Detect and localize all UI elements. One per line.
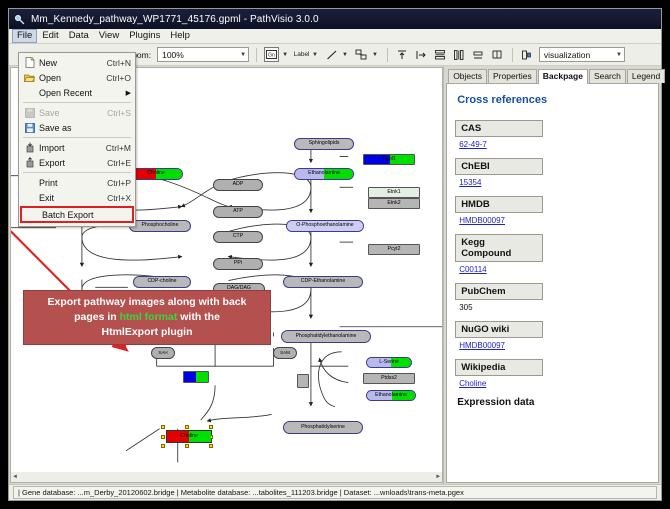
tab-backpage[interactable]: Backpage [538, 69, 588, 84]
datanode-tool-button[interactable]: Gn [264, 47, 279, 62]
annotation-line-3: HtmlExport plugin [30, 325, 264, 340]
canvas-horizontal-scrollbar[interactable]: ◄ ► [10, 472, 443, 483]
distribute-vertical-icon[interactable] [433, 47, 448, 62]
node-label: L-Serine [379, 360, 399, 365]
node-label: O-Phosphoethanolamine [296, 223, 353, 228]
side-panel: Objects Properties Backpage Search Legen… [444, 66, 661, 484]
xref-cas: CAS 62-49-7 [455, 120, 650, 149]
menu-item-label: Import [39, 143, 100, 153]
pathway-node-cdp-ethanolamine[interactable]: CDP-Ethanolamine [283, 276, 363, 288]
menu-item-accelerator: Ctrl+O [106, 73, 131, 83]
node-label: Phosphatidylethanolamine [296, 334, 357, 339]
annotation-callout: Export pathway images along with back pa… [23, 290, 271, 345]
status-bar: | Gene database: ...m_Derby_20120602.bri… [9, 484, 661, 500]
save-disk-icon [23, 107, 36, 119]
xref-database-name: HMDB [455, 196, 543, 213]
window-titlebar: Mm_Kennedy_pathway_WP1771_45176.gpml - P… [9, 9, 661, 29]
window-title: Mm_Kennedy_pathway_WP1771_45176.gpml - P… [31, 14, 319, 25]
xref-database-name: Wikipedia [455, 359, 543, 376]
node-label: Sphingolipids [309, 141, 340, 146]
node-label: Etnk1 [387, 190, 400, 195]
xref-nugo: NuGO wiki HMDB00097 [455, 321, 650, 350]
pathway-node-o-phosphoethanolamine[interactable]: O-Phosphoethanolamine [286, 220, 364, 232]
node-label: SAM [280, 351, 290, 356]
xref-hmdb: HMDB HMDB00097 [455, 196, 650, 225]
file-menu-exit[interactable]: Exit Ctrl+X [19, 190, 135, 205]
toolbar-separator [256, 48, 257, 62]
align-top-icon[interactable] [395, 47, 410, 62]
blank-icon [23, 87, 36, 99]
scroll-right-icon[interactable]: ► [435, 474, 441, 480]
status-text: | Gene database: ...m_Derby_20120602.bri… [13, 486, 657, 499]
node-label: Ptdss2 [381, 376, 397, 381]
shape-dropdown-icon[interactable]: ▼ [372, 52, 378, 58]
menu-item-label: Batch Export [42, 210, 128, 220]
zoom-combo[interactable]: 100% ▼ [157, 47, 249, 62]
pathway-gene-etnk1[interactable]: Etnk1 [368, 187, 420, 198]
file-menu-save: Save Ctrl+S [19, 105, 135, 120]
pathway-node-choline-bottom[interactable]: Choline [166, 430, 212, 443]
file-menu-open[interactable]: Open Ctrl+O [19, 70, 135, 85]
common-height-icon[interactable] [490, 47, 505, 62]
svg-text:Gn: Gn [268, 53, 275, 59]
node-label: Sgpl1 [382, 157, 395, 162]
menu-separator-1 [23, 102, 131, 103]
handle-n[interactable] [185, 425, 189, 429]
menu-item-accelerator: Ctrl+P [107, 178, 131, 188]
node-label: Pcyt2 [388, 247, 401, 252]
menu-item-label: Export [39, 158, 101, 168]
pathway-node-sphingolipids[interactable]: Sphingolipids [294, 138, 354, 150]
handle-se[interactable] [209, 444, 213, 448]
align-left-icon[interactable] [414, 47, 429, 62]
pathway-node-ctp[interactable]: CTP [213, 231, 263, 243]
node-label: Phosphatidylserine [301, 425, 345, 430]
xref-database-name: PubChem [455, 283, 543, 300]
annotation-line-2: pages in html format with the [30, 310, 264, 325]
file-menu-dropdown[interactable]: New Ctrl+N Open Ctrl+O Open Recent ▶ [18, 52, 136, 227]
menu-plugins[interactable]: Plugins [124, 29, 165, 43]
menu-item-label: Print [39, 178, 101, 188]
pathway-node-adp[interactable]: ADP [213, 179, 263, 191]
menu-file[interactable]: File [12, 29, 37, 43]
node-label: Etnk2 [387, 201, 400, 206]
menu-separator-3 [23, 172, 131, 173]
node-label: PPi [234, 261, 242, 266]
pathway-node-ethanolamine-top[interactable]: Ethanolamine [294, 168, 354, 180]
xref-link[interactable]: C00114 [459, 265, 650, 274]
node-label: ADP [233, 182, 244, 187]
file-menu-import[interactable]: Import Ctrl+M [19, 140, 135, 155]
cross-references-heading: Cross references [457, 94, 650, 106]
pathvisio-window: Mm_Kennedy_pathway_WP1771_45176.gpml - P… [8, 8, 662, 501]
pathway-node-cdp-choline[interactable]: CDP-choline [133, 276, 191, 288]
node-label: Phosphocholine [142, 223, 179, 228]
handle-nw[interactable] [161, 425, 165, 429]
file-menu-open-recent[interactable]: Open Recent ▶ [19, 85, 135, 100]
menu-item-accelerator: Ctrl+S [107, 108, 131, 118]
xref-kegg: Kegg Compound C00114 [455, 234, 650, 274]
menu-item-accelerator: Ctrl+N [107, 58, 131, 68]
tab-objects[interactable]: Objects [448, 69, 487, 83]
blank-icon [23, 192, 36, 204]
file-menu-new[interactable]: New Ctrl+N [19, 55, 135, 70]
label-dropdown-icon[interactable]: ▼ [312, 52, 318, 58]
pathway-gene-chpt[interactable] [183, 371, 209, 383]
menu-item-accelerator: Ctrl+X [107, 193, 131, 203]
save-as-icon [23, 122, 36, 134]
expression-data-heading: Expression data [457, 397, 650, 408]
pathway-node-sah[interactable]: SAH [151, 347, 175, 359]
datanode-dropdown-icon[interactable]: ▼ [282, 52, 288, 58]
toolbar-separator-3 [512, 48, 513, 62]
menu-item-label: Save [39, 108, 101, 118]
label-tool-button[interactable]: Label [294, 47, 309, 62]
visualization-value: visualization [544, 50, 590, 60]
xref-database-name: Kegg Compound [455, 234, 543, 262]
file-menu-export[interactable]: Export Ctrl+E [19, 155, 135, 170]
chevron-down-icon: ▼ [240, 52, 246, 58]
xref-chebi: ChEBI 15354 [455, 158, 650, 187]
xref-link[interactable]: Choline [459, 379, 650, 388]
menu-item-label: Exit [39, 193, 101, 203]
pathway-node-l-serine[interactable]: L-Serine [366, 357, 412, 368]
backpage-content: Cross references CAS 62-49-7 ChEBI 15354… [446, 83, 659, 483]
xref-database-name: CAS [455, 120, 543, 137]
handle-s[interactable] [185, 444, 189, 448]
menu-item-label: Open Recent [39, 88, 120, 98]
scrollbar-thumb[interactable] [18, 473, 435, 481]
pathway-gene-ptdss2[interactable]: Ptdss2 [363, 373, 415, 384]
chevron-down-icon-2: ▼ [616, 52, 622, 58]
tab-properties[interactable]: Properties [488, 69, 537, 83]
file-menu-batch-export[interactable]: Batch Export [20, 206, 134, 223]
file-menu-print[interactable]: Print Ctrl+P [19, 175, 135, 190]
export-icon [23, 157, 36, 169]
menu-item-label: New [39, 58, 101, 68]
line-dropdown-icon[interactable]: ▼ [342, 52, 348, 58]
xref-link[interactable]: 62-49-7 [459, 140, 650, 149]
xref-database-name: ChEBI [455, 158, 543, 175]
zoom-value: 100% [162, 50, 184, 60]
pathway-node-atp[interactable]: ATP [213, 206, 263, 218]
node-label: Ethanolamine [375, 393, 407, 398]
label-tool-text: Label [294, 51, 310, 58]
tab-search[interactable]: Search [589, 69, 626, 83]
node-label: Choline [147, 171, 165, 176]
visualization-toggle-icon[interactable] [520, 47, 535, 62]
shape-tool-button[interactable] [354, 47, 369, 62]
menu-help[interactable]: Help [165, 29, 195, 43]
toolbar-separator-2 [387, 48, 388, 62]
xref-database-name: NuGO wiki [455, 321, 543, 338]
menu-bar: File Edit Data View Plugins Help [9, 29, 661, 44]
import-icon [23, 142, 36, 154]
open-folder-icon [23, 72, 36, 84]
annotation-highlight: html format [120, 311, 178, 323]
blank-icon [23, 177, 36, 189]
pathway-node-choline-top[interactable]: Choline [129, 168, 183, 180]
annotation-line2-pre: pages in [74, 311, 120, 323]
tab-legend[interactable]: Legend [627, 69, 665, 83]
pathway-node-ethanolamine-bottom[interactable]: Ethanolamine [366, 390, 416, 401]
distribute-horizontal-icon[interactable] [452, 47, 467, 62]
common-width-icon[interactable] [471, 47, 486, 62]
submenu-arrow-icon: ▶ [126, 89, 131, 97]
pathway-gene-unlabeled[interactable] [297, 374, 309, 388]
node-fill-left [184, 372, 196, 382]
menu-item-accelerator: Ctrl+E [107, 158, 131, 168]
node-fill-right [196, 372, 208, 382]
menu-item-accelerator: Ctrl+M [106, 143, 131, 153]
line-tool-button[interactable] [324, 47, 339, 62]
menu-separator-2 [23, 137, 131, 138]
annotation-line2-post: with the [177, 311, 220, 323]
node-label: Choline [180, 434, 198, 439]
pathway-gene-pcyt2[interactable]: Pcyt2 [368, 244, 420, 255]
node-label: CDP-Ethanolamine [301, 279, 345, 284]
xref-link[interactable]: HMDB00097 [459, 341, 650, 350]
pathway-gene-etnk2[interactable]: Etnk2 [368, 198, 420, 209]
pathway-node-phosphatidylethanolamine[interactable]: Phosphatidylethanolamine [281, 330, 371, 343]
xref-link[interactable]: HMDB00097 [459, 216, 650, 225]
menu-edit[interactable]: Edit [37, 29, 63, 43]
menu-view[interactable]: View [94, 29, 124, 43]
pathway-gene-sgpl1[interactable]: Sgpl1 [363, 154, 415, 165]
pathway-node-ppi[interactable]: PPi [213, 258, 263, 270]
xref-pubchem: PubChem 305 [455, 283, 650, 312]
xref-link[interactable]: 15354 [459, 178, 650, 187]
menu-data[interactable]: Data [64, 29, 94, 43]
menu-item-label: Open [39, 73, 100, 83]
menu-item-label: Save as [39, 123, 125, 133]
side-panel-tabs: Objects Properties Backpage Search Legen… [446, 68, 659, 83]
node-label: Ethanolamine [308, 171, 340, 176]
xref-value: 305 [459, 303, 650, 312]
new-file-icon [23, 57, 36, 69]
annotation-line-1: Export pathway images along with back [30, 295, 264, 310]
handle-ne[interactable] [209, 425, 213, 429]
xref-wikipedia: Wikipedia Choline [455, 359, 650, 388]
node-label: ATP [233, 209, 243, 214]
node-label: CDP-choline [147, 279, 176, 284]
handle-w[interactable] [161, 435, 165, 439]
pathvisio-icon [13, 13, 26, 26]
file-menu-save-as[interactable]: Save as [19, 120, 135, 135]
blank-icon [26, 209, 39, 221]
visualization-combo[interactable]: visualization ▼ [539, 47, 625, 62]
screenshot-root: Mm_Kennedy_pathway_WP1771_45176.gpml - P… [0, 0, 670, 509]
node-label: SAH [158, 351, 167, 356]
handle-sw[interactable] [161, 444, 165, 448]
pathway-node-phosphocholine[interactable]: Phosphocholine [129, 220, 191, 232]
pathway-node-sam[interactable]: SAM [273, 347, 297, 359]
pathway-node-phosphatidylserine[interactable]: Phosphatidylserine [283, 421, 363, 434]
node-label: CTP [233, 234, 243, 239]
